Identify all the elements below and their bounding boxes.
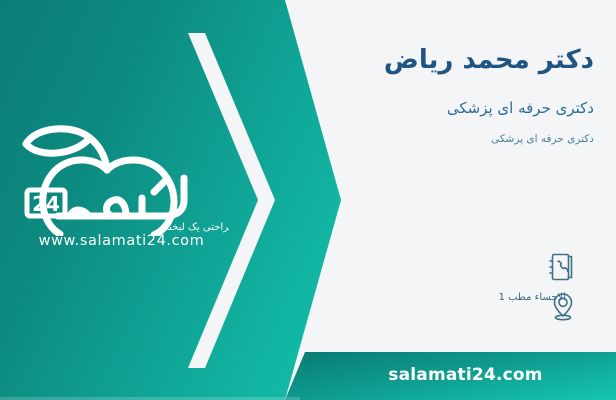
footer-website[interactable]: salamati24.com: [285, 365, 616, 385]
clinic-address-label: الاحساء مطب 1: [386, 292, 566, 303]
doctor-specialty-secondary: دکتری حرفه ای پزشکی: [174, 133, 594, 147]
phone-book-icon[interactable]: [549, 252, 575, 282]
logo-website-url[interactable]: www.salamati24.com: [14, 233, 229, 249]
apple-outline-logo-icon: 24 براحتی یک لبخند: [14, 112, 229, 236]
logo-badge-24: 24: [32, 192, 60, 216]
doctor-profile-card: 24 براحتی یک لبخند www.salamati24.com دک…: [0, 0, 616, 400]
footer-bar: salamati24.com: [285, 352, 616, 400]
logo-tagline: براحتی یک لبخند: [164, 222, 229, 233]
doctor-specialty: دکتری حرفه ای پزشکی: [174, 99, 594, 119]
doctor-name: دکتر محمد ریاض: [174, 44, 594, 77]
